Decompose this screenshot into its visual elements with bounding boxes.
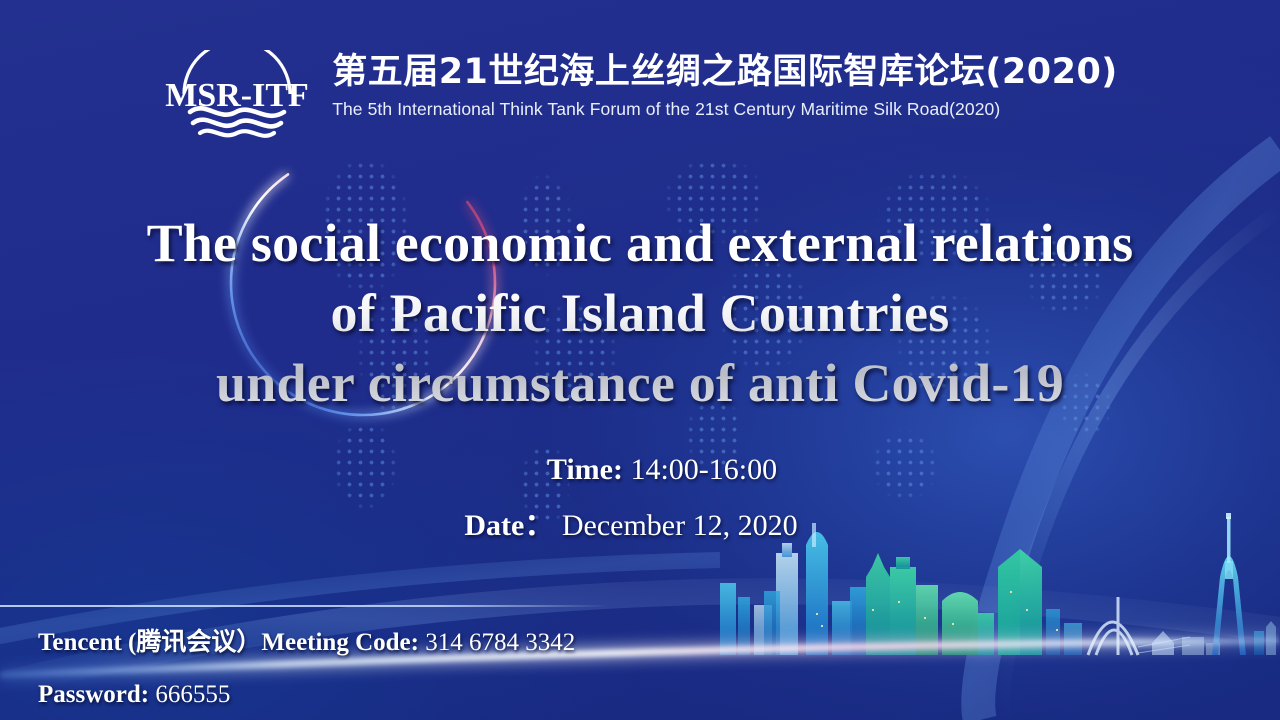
meeting-code-value: 314 6784 3342 [425,629,575,656]
presentation-title: The social economic and external relatio… [0,208,1280,418]
date-value: December 12, 2020 [562,509,798,542]
meeting-code-line: Tencent (腾讯会议）Meeting Code: 314 6784 334… [38,617,575,669]
meeting-info: Tencent (腾讯会议）Meeting Code: 314 6784 334… [38,617,575,720]
event-meta: Time: 14:00-16:00 Date： December 12, 202… [0,442,1280,554]
msr-itf-logo-text: MSR-ITF [165,77,309,114]
password-value: 666555 [155,681,230,708]
event-time-row: Time: 14:00-16:00 [0,442,1280,498]
title-line-2: of Pacific Island Countries [0,278,1280,348]
poster-canvas: MSR-ITF 第五届21世纪海上丝绸之路国际智库论坛(2020) The 5t… [0,0,1280,720]
header-titles: 第五届21世纪海上丝绸之路国际智库论坛(2020) The 5th Intern… [332,48,1118,121]
time-separator: : [613,453,623,486]
meeting-info-divider [0,605,608,607]
meeting-platform-label: Tencent (腾讯会议）Meeting Code: [38,629,419,656]
forum-title-chinese: 第五届21世纪海上丝绸之路国际智库论坛(2020) [332,50,1118,94]
event-date-row: Date： December 12, 2020 [0,498,1280,554]
date-label: Date [464,509,524,542]
title-line-3: under circumstance of anti Covid-19 [0,348,1280,418]
password-label: Password: [38,681,149,708]
msr-itf-logo: MSR-ITF [162,50,312,138]
time-label: Time [547,453,613,486]
title-line-1: The social economic and external relatio… [0,208,1280,278]
poster-header: MSR-ITF 第五届21世纪海上丝绸之路国际智库论坛(2020) The 5t… [0,48,1280,138]
date-separator: ： [524,509,554,542]
meeting-password-line: Password: 666555 [38,669,575,720]
forum-title-english: The 5th International Think Tank Forum o… [332,97,1118,121]
time-value: 14:00-16:00 [630,453,777,486]
